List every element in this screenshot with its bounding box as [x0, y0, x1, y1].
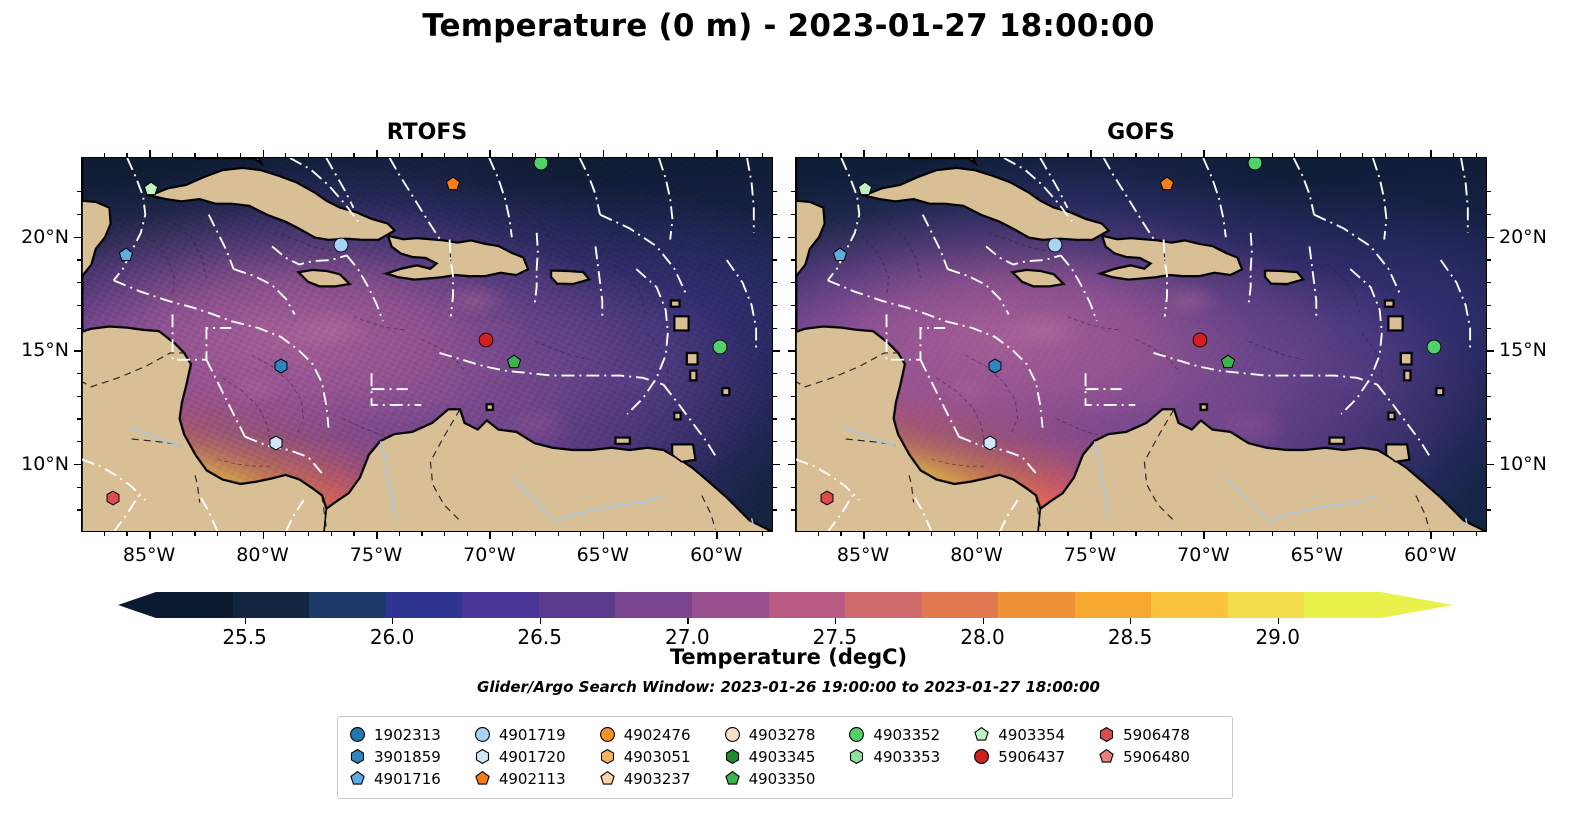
y-minor-tick	[791, 282, 795, 283]
y-minor-tick	[791, 259, 795, 260]
x-minor-tick	[908, 532, 909, 536]
x-minor-tick	[1045, 532, 1046, 536]
legend-item-5906480[interactable]: 5906480	[1099, 747, 1220, 766]
x-minor-tick	[739, 532, 740, 536]
y-minor-tick	[77, 305, 81, 306]
x-axis-label: 85°W	[123, 544, 175, 566]
x-minor-tick	[558, 532, 559, 536]
y-minor-tick-right	[773, 305, 777, 306]
legend-item-4901720[interactable]: 4901720	[475, 747, 596, 766]
x-axis-label: 85°W	[837, 544, 889, 566]
search-window-caption: Glider/Argo Search Window: 2023-01-26 19…	[0, 678, 1577, 696]
colorbar-segment-4	[462, 592, 539, 618]
hexagon-marker-icon	[725, 749, 740, 764]
x-major-tick-top	[1430, 150, 1432, 157]
map-marker-5906478[interactable]	[105, 490, 122, 507]
hexagon-marker-icon	[1099, 727, 1114, 742]
x-minor-tick-top	[580, 153, 581, 157]
x-major-tick-top	[149, 150, 151, 157]
hexagon-marker-icon	[600, 749, 615, 764]
y-minor-tick	[77, 509, 81, 510]
panel-title-rtofs: RTOFS	[81, 120, 773, 145]
x-minor-tick	[399, 532, 400, 536]
y-minor-tick	[77, 373, 81, 374]
circle-marker-icon	[475, 727, 490, 742]
x-minor-tick	[1158, 532, 1159, 536]
x-minor-tick	[1249, 532, 1250, 536]
x-minor-tick-top	[908, 153, 909, 157]
x-minor-tick	[353, 532, 354, 536]
x-minor-tick-top	[1045, 153, 1046, 157]
y-minor-tick-right	[1487, 328, 1491, 329]
colorbar-tick	[392, 618, 393, 624]
float-legend[interactable]: 1902313490171949024764903278490335249033…	[337, 716, 1233, 799]
x-axis-label: 60°W	[1404, 544, 1456, 566]
map-marker-4901720[interactable]	[269, 436, 286, 453]
colorbar[interactable]: 25.526.026.527.027.528.028.529.0	[118, 592, 1453, 618]
y-minor-tick-right	[773, 373, 777, 374]
x-minor-tick-top	[671, 153, 672, 157]
x-minor-tick-top	[694, 153, 695, 157]
y-major-tick-right	[773, 350, 780, 352]
y-major-tick	[74, 350, 81, 352]
x-minor-tick-top	[648, 153, 649, 157]
y-minor-tick-right	[1487, 487, 1491, 488]
legend-item-label: 5906437	[998, 748, 1065, 766]
y-minor-tick-right	[1487, 214, 1491, 215]
x-minor-tick	[1340, 532, 1341, 536]
x-minor-tick-top	[1226, 153, 1227, 157]
map-marker-4901716[interactable]	[119, 247, 136, 264]
y-minor-tick	[791, 509, 795, 510]
circle-marker-icon	[350, 727, 365, 742]
figure-root: Temperature (0 m) - 2023-01-27 18:00:00 …	[0, 0, 1577, 827]
colorbar-max-arrow	[1381, 592, 1453, 618]
pentagon-marker-icon	[475, 771, 490, 786]
x-minor-tick	[931, 532, 932, 536]
colorbar-segment-5	[539, 592, 616, 618]
x-minor-tick	[1294, 532, 1295, 536]
x-minor-tick	[308, 532, 309, 536]
x-minor-tick	[217, 532, 218, 536]
legend-item-label: 4901720	[499, 748, 566, 766]
colorbar-label: Temperature (degC)	[0, 645, 1577, 669]
legend-item-4903350[interactable]: 4903350	[725, 769, 846, 788]
map-marker-3901859[interactable]	[987, 359, 1004, 376]
y-minor-tick	[77, 418, 81, 419]
legend-item-4903051[interactable]: 4903051	[600, 747, 721, 766]
legend-item-4903345[interactable]: 4903345	[725, 747, 846, 766]
x-minor-tick-top	[104, 153, 105, 157]
legend-item-label: 5906478	[1123, 726, 1190, 744]
x-minor-tick	[1476, 532, 1477, 536]
legend-item-label: 4903345	[749, 748, 816, 766]
y-minor-tick-right	[773, 396, 777, 397]
x-major-tick-top	[376, 150, 378, 157]
map-marker-4903350[interactable]	[507, 354, 524, 371]
x-minor-tick	[648, 532, 649, 536]
legend-item-label: 4903237	[624, 770, 691, 788]
x-minor-tick	[535, 532, 536, 536]
x-minor-tick	[421, 532, 422, 536]
x-axis-label: 65°W	[1291, 544, 1343, 566]
x-minor-tick-top	[1158, 153, 1159, 157]
x-minor-tick-top	[1340, 153, 1341, 157]
x-major-tick-top	[489, 150, 491, 157]
y-major-tick-right	[1487, 464, 1494, 466]
legend-item-4901716[interactable]: 4901716	[350, 769, 471, 788]
marker-layer-rtofs	[82, 158, 772, 531]
x-minor-tick	[104, 532, 105, 536]
map-marker-4901719[interactable]	[1047, 237, 1066, 256]
colorbar-extend-max	[1381, 592, 1453, 618]
x-major-tick	[863, 532, 865, 539]
y-major-tick-right	[1487, 350, 1494, 352]
x-minor-tick-top	[194, 153, 195, 157]
y-minor-tick-right	[1487, 373, 1491, 374]
x-minor-tick	[1408, 532, 1409, 536]
y-minor-tick	[791, 328, 795, 329]
x-minor-tick-top	[558, 153, 559, 157]
legend-item-label: 4903350	[749, 770, 816, 788]
x-minor-tick-top	[285, 153, 286, 157]
x-axis-label: 70°W	[1177, 544, 1229, 566]
x-minor-tick-top	[626, 153, 627, 157]
pentagon-marker-icon	[974, 727, 989, 742]
x-minor-tick	[444, 532, 445, 536]
x-minor-tick	[671, 532, 672, 536]
y-minor-tick	[791, 487, 795, 488]
x-minor-tick-top	[931, 153, 932, 157]
y-minor-tick-right	[773, 487, 777, 488]
x-minor-tick-top	[954, 153, 955, 157]
x-minor-tick-top	[999, 153, 1000, 157]
x-minor-tick	[1453, 532, 1454, 536]
x-major-tick	[603, 532, 605, 539]
y-minor-tick-right	[773, 191, 777, 192]
x-minor-tick-top	[1408, 153, 1409, 157]
y-minor-tick-right	[773, 259, 777, 260]
panel-title-gofs: GOFS	[795, 120, 1487, 145]
y-major-tick	[74, 464, 81, 466]
map-marker-3901859[interactable]	[273, 359, 290, 376]
hexagon-marker-icon	[849, 749, 864, 764]
x-minor-tick	[1113, 532, 1114, 536]
y-minor-tick-right	[1487, 259, 1491, 260]
x-minor-tick	[1135, 532, 1136, 536]
map-marker-4903354[interactable]	[144, 181, 161, 198]
colorbar-min-arrow	[118, 592, 156, 618]
x-minor-tick-top	[762, 153, 763, 157]
y-minor-tick	[77, 191, 81, 192]
y-minor-tick	[791, 305, 795, 306]
x-axis-label: 60°W	[690, 544, 742, 566]
y-minor-tick-right	[773, 214, 777, 215]
x-minor-tick-top	[1181, 153, 1182, 157]
legend-grid: 1902313490171949024764903278490335249033…	[350, 725, 1220, 788]
y-axis-label: 20°N	[1499, 226, 1547, 248]
x-minor-tick	[1272, 532, 1273, 536]
map-marker-4901719[interactable]	[333, 237, 352, 256]
y-major-tick-right	[1487, 237, 1494, 239]
map-marker-4903354[interactable]	[858, 181, 875, 198]
x-major-tick	[716, 532, 718, 539]
legend-item-4901719[interactable]: 4901719	[475, 725, 596, 744]
circle-marker-icon	[849, 727, 864, 742]
colorbar-segment-8	[769, 592, 846, 618]
y-minor-tick	[77, 328, 81, 329]
legend-item-4902476[interactable]: 4902476	[600, 725, 721, 744]
x-minor-tick	[512, 532, 513, 536]
x-minor-tick-top	[444, 153, 445, 157]
x-minor-tick-top	[126, 153, 127, 157]
x-minor-tick	[762, 532, 763, 536]
x-major-tick	[1203, 532, 1205, 539]
legend-item-5906437[interactable]: 5906437	[974, 747, 1095, 766]
x-minor-tick	[1385, 532, 1386, 536]
colorbar-tick	[687, 618, 688, 624]
y-minor-tick-right	[773, 328, 777, 329]
y-minor-tick	[77, 396, 81, 397]
x-major-tick-top	[1090, 150, 1092, 157]
colorbar-segment-3	[386, 592, 463, 618]
y-minor-tick-right	[773, 509, 777, 510]
x-minor-tick	[1067, 532, 1068, 536]
x-major-tick	[1317, 532, 1319, 539]
legend-item-label: 4902113	[499, 770, 566, 788]
x-minor-tick-top	[1067, 153, 1068, 157]
map-marker-4903352[interactable]	[1426, 339, 1445, 358]
x-minor-tick	[1226, 532, 1227, 536]
legend-item-4903278[interactable]: 4903278	[725, 725, 846, 744]
x-minor-tick	[580, 532, 581, 536]
x-major-tick	[1090, 532, 1092, 539]
x-minor-tick-top	[1294, 153, 1295, 157]
x-minor-tick-top	[217, 153, 218, 157]
legend-item-label: 4903353	[873, 748, 940, 766]
x-major-tick	[977, 532, 979, 539]
legend-item-label: 4903051	[624, 748, 691, 766]
x-axis-label: 80°W	[236, 544, 288, 566]
x-major-tick-top	[1317, 150, 1319, 157]
y-minor-tick	[791, 441, 795, 442]
map-marker-4901720[interactable]	[983, 436, 1000, 453]
y-minor-tick	[791, 373, 795, 374]
y-minor-tick-right	[773, 441, 777, 442]
x-minor-tick	[694, 532, 695, 536]
y-minor-tick	[77, 214, 81, 215]
y-minor-tick	[791, 214, 795, 215]
map-marker-4903350[interactable]	[1221, 354, 1238, 371]
legend-item-label: 4903354	[998, 726, 1065, 744]
y-minor-tick-right	[1487, 418, 1491, 419]
x-minor-tick-top	[840, 153, 841, 157]
x-axis-label: 75°W	[1064, 544, 1116, 566]
x-minor-tick-top	[353, 153, 354, 157]
x-major-tick	[149, 532, 151, 539]
y-major-tick	[788, 350, 795, 352]
map-panel-rtofs[interactable]	[81, 157, 773, 532]
legend-item-label: 3901859	[374, 748, 441, 766]
x-minor-tick	[285, 532, 286, 536]
map-marker-4903352[interactable]	[712, 339, 731, 358]
circle-marker-icon	[600, 727, 615, 742]
x-minor-tick	[240, 532, 241, 536]
y-minor-tick-right	[1487, 396, 1491, 397]
y-minor-tick	[791, 418, 795, 419]
colorbar-tick	[245, 618, 246, 624]
legend-item-label: 4901719	[499, 726, 566, 744]
x-major-tick	[1430, 532, 1432, 539]
hexagon-marker-icon	[475, 749, 490, 764]
x-minor-tick	[1022, 532, 1023, 536]
x-minor-tick	[886, 532, 887, 536]
x-minor-tick	[999, 532, 1000, 536]
map-marker-4901716[interactable]	[833, 247, 850, 264]
x-minor-tick	[331, 532, 332, 536]
x-minor-tick-top	[399, 153, 400, 157]
x-minor-tick	[818, 532, 819, 536]
legend-item-1902313[interactable]: 1902313	[350, 725, 471, 744]
y-minor-tick	[77, 259, 81, 260]
y-minor-tick-right	[773, 418, 777, 419]
colorbar-tick	[1130, 618, 1131, 624]
x-major-tick-top	[1203, 150, 1205, 157]
colorbar-segment-14	[1228, 592, 1305, 618]
legend-item-label: 5906480	[1123, 748, 1190, 766]
x-major-tick-top	[977, 150, 979, 157]
marker-layer-gofs	[796, 158, 1486, 531]
x-minor-tick-top	[512, 153, 513, 157]
x-minor-tick-top	[535, 153, 536, 157]
colorbar-segment-10	[922, 592, 999, 618]
x-major-tick-top	[863, 150, 865, 157]
map-marker-5906437[interactable]	[1193, 333, 1212, 352]
pentagon-marker-icon	[1099, 749, 1114, 764]
page-title: Temperature (0 m) - 2023-01-27 18:00:00	[0, 8, 1577, 44]
colorbar-tick	[835, 618, 836, 624]
y-axis-label: 15°N	[0, 339, 69, 361]
x-major-tick-top	[263, 150, 265, 157]
colorbar-segment-6	[615, 592, 692, 618]
x-minor-tick	[840, 532, 841, 536]
circle-marker-icon	[974, 749, 989, 764]
x-minor-tick-top	[1476, 153, 1477, 157]
y-minor-tick	[791, 396, 795, 397]
legend-item-label: 4903278	[749, 726, 816, 744]
colorbar-segment-2	[309, 592, 386, 618]
circle-marker-icon	[725, 727, 740, 742]
map-marker-5906437[interactable]	[479, 333, 498, 352]
y-major-tick-right	[773, 237, 780, 239]
legend-item-4903353[interactable]: 4903353	[849, 747, 970, 766]
x-minor-tick-top	[467, 153, 468, 157]
x-minor-tick-top	[331, 153, 332, 157]
map-marker-4903352[interactable]	[533, 157, 552, 174]
x-minor-tick	[626, 532, 627, 536]
x-minor-tick-top	[308, 153, 309, 157]
legend-item-label: 1902313	[374, 726, 441, 744]
map-marker-4903352[interactable]	[1247, 157, 1266, 174]
colorbar-segment-0	[156, 592, 233, 618]
map-marker-4902113[interactable]	[1160, 177, 1177, 194]
x-minor-tick-top	[421, 153, 422, 157]
pentagon-marker-icon	[350, 771, 365, 786]
x-minor-tick	[194, 532, 195, 536]
y-minor-tick	[77, 441, 81, 442]
colorbar-tick	[983, 618, 984, 624]
y-minor-tick	[77, 282, 81, 283]
colorbar-segment-1	[233, 592, 310, 618]
x-major-tick	[376, 532, 378, 539]
legend-item-label: 4903352	[873, 726, 940, 744]
legend-item-4903354[interactable]: 4903354	[974, 725, 1095, 744]
pentagon-marker-icon	[600, 771, 615, 786]
x-minor-tick	[126, 532, 127, 536]
map-marker-5906478[interactable]	[819, 490, 836, 507]
x-axis-label: 70°W	[463, 544, 515, 566]
x-major-tick	[489, 532, 491, 539]
x-axis-label: 80°W	[950, 544, 1002, 566]
legend-item-4902113[interactable]: 4902113	[475, 769, 596, 788]
x-minor-tick-top	[1453, 153, 1454, 157]
x-minor-tick-top	[1135, 153, 1136, 157]
legend-item-label: 4902476	[624, 726, 691, 744]
y-minor-tick	[77, 487, 81, 488]
colorbar-extend-min	[118, 592, 156, 618]
y-axis-label: 20°N	[0, 226, 69, 248]
colorbar-segment-11	[998, 592, 1075, 618]
x-minor-tick-top	[1249, 153, 1250, 157]
x-minor-tick-top	[1272, 153, 1273, 157]
legend-item-4903352[interactable]: 4903352	[849, 725, 970, 744]
x-minor-tick-top	[886, 153, 887, 157]
x-minor-tick	[1181, 532, 1182, 536]
x-major-tick-top	[716, 150, 718, 157]
y-major-tick	[788, 237, 795, 239]
hexagon-marker-icon	[350, 749, 365, 764]
y-minor-tick-right	[1487, 305, 1491, 306]
x-minor-tick-top	[739, 153, 740, 157]
x-minor-tick-top	[1022, 153, 1023, 157]
x-minor-tick-top	[1385, 153, 1386, 157]
y-minor-tick-right	[1487, 282, 1491, 283]
map-panel-gofs[interactable]	[795, 157, 1487, 532]
x-major-tick	[263, 532, 265, 539]
colorbar-segment-15	[1304, 592, 1381, 618]
y-minor-tick	[791, 191, 795, 192]
y-axis-label: 15°N	[1499, 339, 1547, 361]
y-axis-label: 10°N	[1499, 453, 1547, 475]
x-minor-tick	[954, 532, 955, 536]
x-major-tick-top	[603, 150, 605, 157]
y-minor-tick-right	[1487, 509, 1491, 510]
colorbar-segment-13	[1151, 592, 1228, 618]
map-marker-4902113[interactable]	[446, 177, 463, 194]
legend-item-5906478[interactable]: 5906478	[1099, 725, 1220, 744]
x-minor-tick	[1362, 532, 1363, 536]
colorbar-tick	[540, 618, 541, 624]
legend-item-4903237[interactable]: 4903237	[600, 769, 721, 788]
y-major-tick	[74, 237, 81, 239]
y-major-tick-right	[773, 464, 780, 466]
colorbar-segment-9	[845, 592, 922, 618]
colorbar-gradient: 25.526.026.527.027.528.028.529.0	[156, 592, 1381, 618]
legend-item-label: 4901716	[374, 770, 441, 788]
y-minor-tick-right	[773, 282, 777, 283]
legend-item-3901859[interactable]: 3901859	[350, 747, 471, 766]
x-minor-tick	[172, 532, 173, 536]
